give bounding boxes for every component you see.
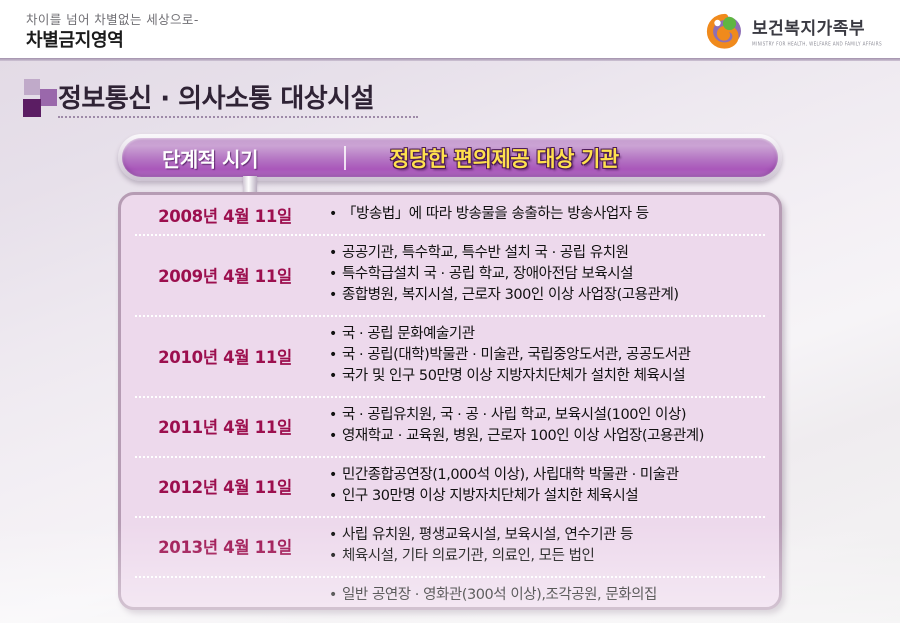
row-date-cell: 2010년 4월 11일 — [121, 344, 329, 368]
ministry-emblem-icon — [704, 10, 744, 50]
row-item: 종합병원, 복지시설, 근로자 300인 이상 사업장(고용관계) — [329, 285, 771, 306]
row-items-cell: 「방송법」에 따라 방송물을 송출하는 방송사업자 등 — [329, 195, 779, 234]
row-date-cell: 2011년 4월 11일 — [121, 414, 329, 438]
row-date-cell: 2009년 4월 11일 — [121, 263, 329, 287]
row-item: 국 · 공립 문화예술기관 — [329, 324, 771, 345]
logo-name-english: MINISTRY FOR HEALTH, WELFARE AND FAMILY … — [752, 41, 882, 47]
square-dark — [23, 99, 41, 117]
row-item: 「방송법」에 따라 방송물을 송출하는 방송사업자 등 — [329, 204, 771, 225]
logo-name-korean: 보건복지가족부 — [752, 14, 882, 39]
table-row: 2012년 4월 11일민간종합공연장(1,000석 이상), 사립대학 박물관… — [121, 456, 779, 516]
schedule-table-panel: 2008년 4월 11일「방송법」에 따라 방송물을 송출하는 방송사업자 등2… — [118, 192, 782, 610]
row-item: 체육시설, 기타 의료기관, 의료인, 모든 법인 — [329, 546, 771, 567]
table-header-left-label: 단계적 시기 — [162, 143, 258, 172]
title-underline — [58, 116, 418, 118]
row-items-cell: 민간종합공연장(1,000석 이상), 사립대학 박물관 · 미술관인구 30만… — [329, 456, 779, 516]
square-medium — [40, 89, 57, 106]
table-row: 2010년 4월 11일국 · 공립 문화예술기관국 · 공립(대학)박물관 ·… — [121, 315, 779, 396]
row-item: 국가 및 인구 50만명 이상 지방자치단체가 설치한 체육시설 — [329, 366, 771, 387]
department-title: 차별금지영역 — [26, 26, 124, 52]
schedule-rows-container: 2008년 4월 11일「방송법」에 따라 방송물을 송출하는 방송사업자 등2… — [121, 195, 779, 610]
row-item: 영재학교 · 교육원, 병원, 근로자 100인 이상 사업장(고용관계) — [329, 426, 771, 447]
row-item: 인구 30만명 이상 지방자치단체가 설치한 체육시설 — [329, 486, 771, 507]
slide-body: 정보통신 · 의사소통 대상시설 단계적 시기 정당한 편의제공 대상 기관 2… — [0, 58, 900, 623]
slide-title: 정보통신 · 의사소통 대상시설 — [58, 78, 374, 115]
row-date-cell: 2008년 4월 11일 — [121, 203, 329, 227]
row-date-cell: 2013년 4월 11일 — [121, 534, 329, 558]
table-row: 2009년 4월 11일공공기관, 특수학교, 특수반 설치 국 · 공립 유치… — [121, 234, 779, 315]
row-item: 민간종합공연장(1,000석 이상), 사립대학 박물관 · 미술관 — [329, 465, 771, 486]
row-item: 국 · 공립(대학)박물관 · 미술관, 국립중앙도서관, 공공도서관 — [329, 345, 771, 366]
row-item: 일반 공연장 · 영화관(300석 이상),조각공원, 문화의집 — [329, 585, 771, 606]
row-items-cell: 사립 유치원, 평생교육시설, 보육시설, 연수기관 등체육시설, 기타 의료기… — [329, 516, 779, 576]
ministry-logo: 보건복지가족부 MINISTRY FOR HEALTH, WELFARE AND… — [704, 8, 882, 52]
table-row: 2013년 4월 11일사립 유치원, 평생교육시설, 보육시설, 연수기관 등… — [121, 516, 779, 576]
table-header-pill-inner: 단계적 시기 정당한 편의제공 대상 기관 — [122, 138, 778, 177]
row-date-cell: 2015년 4월 11일 — [121, 605, 329, 611]
table-header-divider — [344, 146, 346, 170]
row-item: 복지회관, 사립박물관 · 미술관(500㎡), 문화 · 체육센터 등 — [329, 606, 771, 610]
row-item: 특수학급설치 국 · 공립 학교, 장애아전담 보육시설 — [329, 264, 771, 285]
slide-heading-row: 정보통신 · 의사소통 대상시설 — [0, 78, 900, 122]
row-items-cell: 국 · 공립유치원, 국 · 공 · 사립 학교, 보육시설(100인 이상)영… — [329, 396, 779, 456]
row-items-cell: 일반 공연장 · 영화관(300석 이상),조각공원, 문화의집복지회관, 사립… — [329, 576, 779, 610]
row-item: 사립 유치원, 평생교육시설, 보육시설, 연수기관 등 — [329, 525, 771, 546]
square-light — [24, 79, 40, 95]
row-date-cell: 2012년 4월 11일 — [121, 474, 329, 498]
row-items-cell: 공공기관, 특수학교, 특수반 설치 국 · 공립 유치원특수학급설치 국 · … — [329, 234, 779, 315]
top-header-band: 차이를 넘어 차별없는 세상으로- 차별금지영역 보건복지가족부 MINISTR… — [0, 0, 900, 58]
logo-text-column: 보건복지가족부 MINISTRY FOR HEALTH, WELFARE AND… — [752, 14, 882, 46]
table-row: 2008년 4월 11일「방송법」에 따라 방송물을 송출하는 방송사업자 등 — [121, 195, 779, 234]
row-item: 공공기관, 특수학교, 특수반 설치 국 · 공립 유치원 — [329, 243, 771, 264]
table-row: 2015년 4월 11일일반 공연장 · 영화관(300석 이상),조각공원, … — [121, 576, 779, 610]
table-header-pill: 단계적 시기 정당한 편의제공 대상 기관 — [118, 134, 782, 181]
row-item: 국 · 공립유치원, 국 · 공 · 사립 학교, 보육시설(100인 이상) — [329, 405, 771, 426]
table-header-right-label: 정당한 편의제공 대상 기관 — [390, 143, 619, 173]
row-items-cell: 국 · 공립 문화예술기관국 · 공립(대학)박물관 · 미술관, 국립중앙도서… — [329, 315, 779, 396]
table-row: 2011년 4월 11일국 · 공립유치원, 국 · 공 · 사립 학교, 보육… — [121, 396, 779, 456]
